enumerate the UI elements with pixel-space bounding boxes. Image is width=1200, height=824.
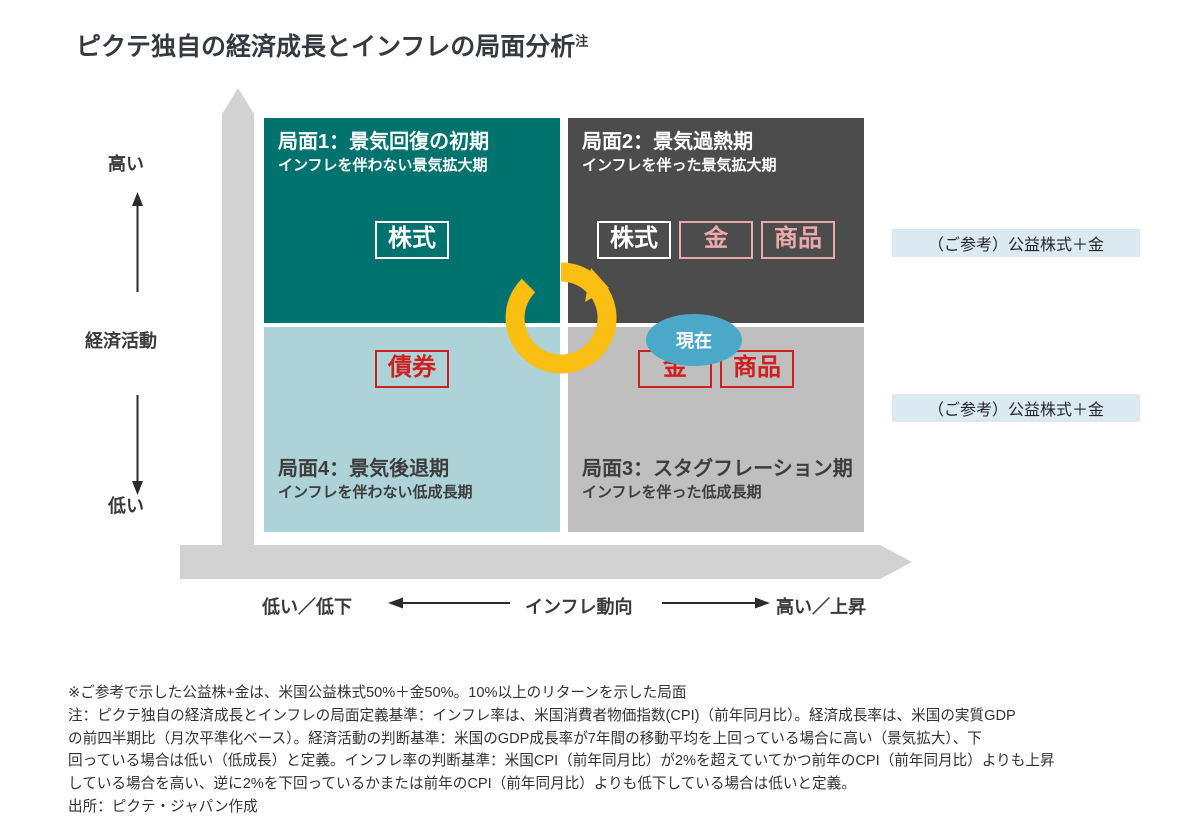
arrow-left-icon (388, 596, 510, 610)
circular-arrow-icon (505, 262, 617, 374)
current-position-marker: 現在 (646, 314, 742, 366)
footnote-line-5: している場合を高い、逆に2%を下回っているかまたは前年のCPI（前年同月比）より… (68, 773, 1148, 796)
footnote-line-3: の前四半期比（月次平準化ベース）。経済活動の判断基準：米国のGDP成長率が7年間… (68, 728, 1148, 751)
y-axis-title: 経済活動 (85, 327, 157, 353)
footnote-source: 出所：ピクテ・ジャパン作成 (68, 796, 1148, 819)
y-axis-high-label: 高い (108, 150, 144, 176)
asset-box-equity-q1: 株式 (375, 221, 449, 259)
page-title-text: ピクテ独自の経済成長とインフレの局面分析 (76, 33, 575, 61)
page-title-superscript: 注 (575, 34, 588, 49)
quadrant-1-asset-row: 株式 (264, 221, 560, 259)
quadrant-2-subtitle: インフレを伴った景気拡大期 (582, 156, 860, 176)
asset-box-commodity-q2: 商品 (761, 221, 835, 259)
arrow-right-icon (662, 596, 770, 610)
quadrant-2-heading: 局面2：景気過熱期 インフレを伴った景気拡大期 (582, 130, 860, 175)
asset-box-gold-q2: 金 (679, 221, 753, 259)
x-axis-high-label: 高い／上昇 (776, 593, 866, 619)
footnote-line-4: 回っている場合は低い（低成長）と定義。インフレ率の判断基準：米国CPI（前年同月… (68, 750, 1148, 773)
x-axis-low-label: 低い／低下 (262, 593, 352, 619)
horizontal-axis-arrow (180, 545, 912, 579)
quadrant-3-heading: 局面3：スタグフレーション期 インフレを伴った低成長期 (582, 457, 860, 502)
quadrant-1-title: 局面1：景気回復の初期 (278, 130, 556, 155)
y-axis-low-label: 低い (108, 492, 144, 518)
footnotes-block: ※ご参考で示した公益株+金は、米国公益株式50%＋金50%。10%以上のリターン… (68, 682, 1148, 819)
footnote-line-1: ※ご参考で示した公益株+金は、米国公益株式50%＋金50%。10%以上のリターン… (68, 682, 1148, 705)
quadrant-2-asset-row: 株式 金 商品 (568, 221, 864, 259)
asset-box-equity-q2: 株式 (597, 221, 671, 259)
vertical-axis-arrow (222, 88, 254, 566)
arrow-down-icon (131, 395, 144, 495)
footnote-line-2: 注：ピクテ独自の経済成長とインフレの局面定義基準：インフレ率は、米国消費者物価指… (68, 705, 1148, 728)
quadrant-3-title: 局面3：スタグフレーション期 (582, 457, 860, 482)
quadrant-4-title: 局面4：景気後退期 (278, 457, 556, 482)
quadrant-3-subtitle: インフレを伴った低成長期 (582, 483, 860, 503)
quadrant-1-heading: 局面1：景気回復の初期 インフレを伴わない景気拡大期 (278, 130, 556, 175)
side-note-upper: （ご参考）公益株式＋金 (892, 229, 1140, 257)
quadrant-4-subtitle: インフレを伴わない低成長期 (278, 483, 556, 503)
side-note-lower: （ご参考）公益株式＋金 (892, 394, 1140, 422)
quadrant-4-heading: 局面4：景気後退期 インフレを伴わない低成長期 (278, 457, 556, 502)
page-title: ピクテ独自の経済成長とインフレの局面分析注 (76, 27, 588, 63)
x-axis-title: インフレ動向 (525, 593, 632, 619)
quadrant-2-title: 局面2：景気過熱期 (582, 130, 860, 155)
quadrant-1-subtitle: インフレを伴わない景気拡大期 (278, 156, 556, 176)
arrow-up-icon (131, 192, 144, 292)
asset-box-bond-q4: 債券 (375, 350, 449, 388)
